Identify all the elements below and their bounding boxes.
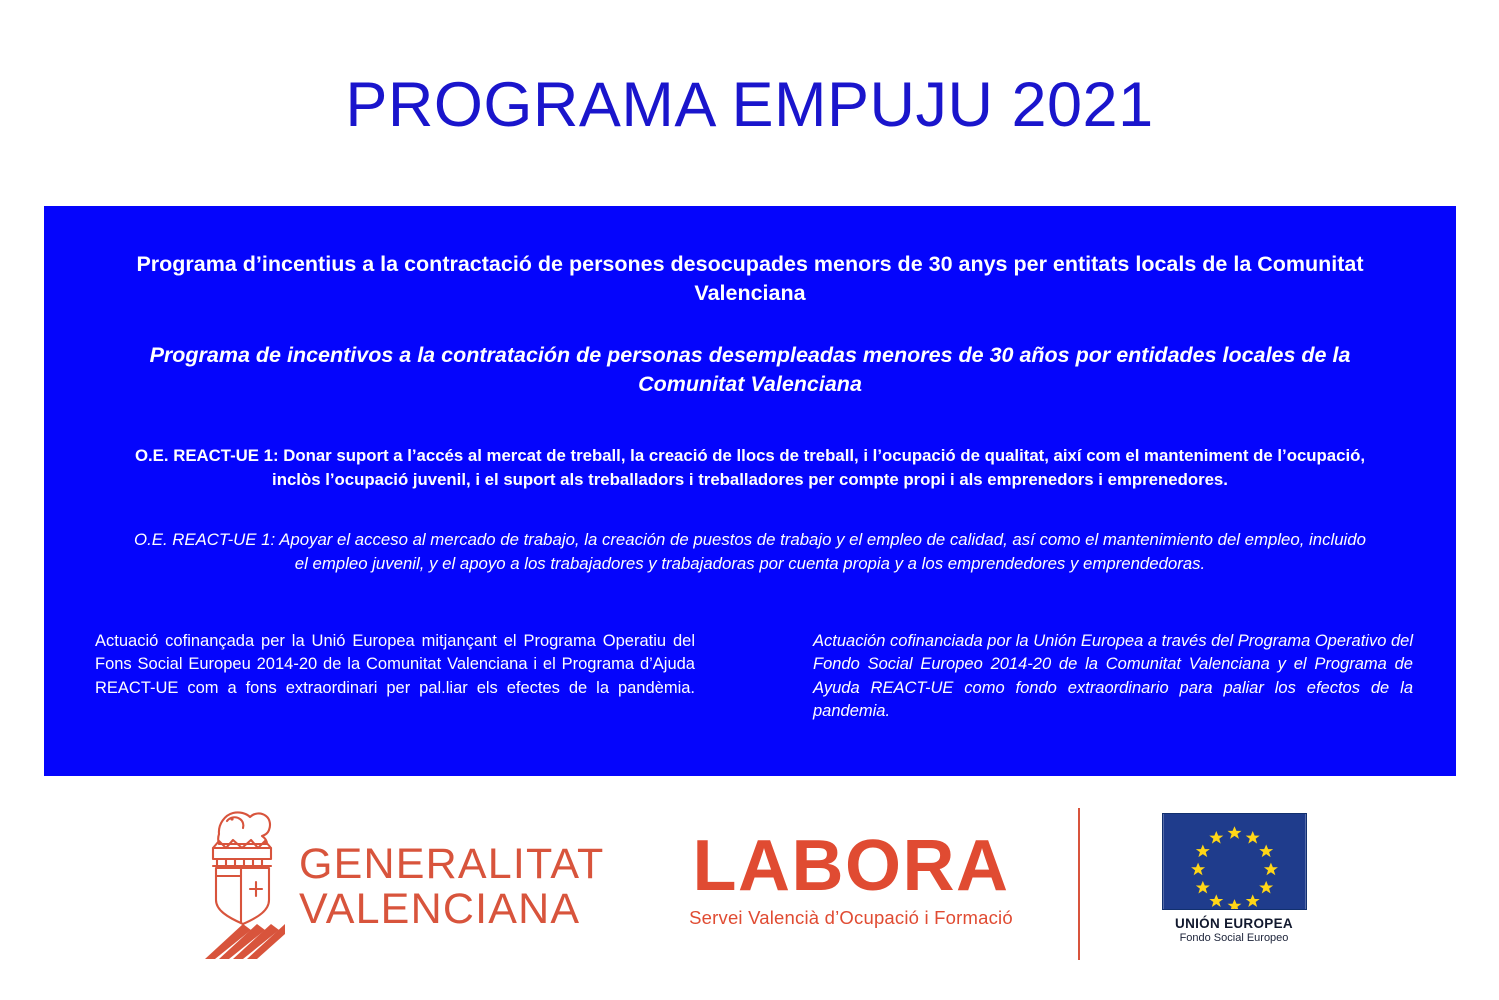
generalitat-valenciana-wordmark: GENERALITAT VALENCIANA — [299, 804, 605, 932]
funding-notice-spanish: Actuación cofinanciada por la Unión Euro… — [813, 630, 1413, 747]
eu-title: UNIÓN EUROPEA — [1158, 916, 1310, 931]
eu-subtitle: Fondo Social Europeo — [1158, 932, 1310, 944]
program-heading-spanish: Programa de incentivos a la contratación… — [104, 341, 1396, 400]
labora-wordmark: LABORA — [676, 832, 1026, 900]
funding-notice-valencian: Actuació cofinançada per la Unió Europea… — [95, 630, 695, 747]
objective-text-spanish: O.E. REACT-UE 1: Apoyar el acceso al mer… — [130, 528, 1370, 575]
funding-notice-columns: Actuació cofinançada per la Unió Europea… — [95, 630, 1413, 747]
page-title: PROGRAMA EMPUJU 2021 — [0, 72, 1499, 138]
logo-strip: GENERALITAT VALENCIANA LABORA Servei Val… — [0, 790, 1499, 975]
generalitat-valenciana-crest-icon — [199, 804, 285, 959]
generalitat-line-2: VALENCIANA — [299, 887, 605, 932]
generalitat-line-1: GENERALITAT — [299, 842, 605, 887]
labora-tagline: Servei Valencià d’Ocupació i Formació — [676, 907, 1026, 929]
generalitat-valenciana-logo: GENERALITAT VALENCIANA — [199, 804, 605, 959]
eu-flag-icon — [1162, 813, 1307, 910]
blue-info-panel: Programa d’incentius a la contractació d… — [44, 206, 1456, 776]
program-heading-valencian: Programa d’incentius a la contractació d… — [104, 250, 1396, 309]
vertical-divider — [1078, 808, 1080, 960]
labora-logo: LABORA Servei Valencià d’Ocupació i Form… — [676, 832, 1026, 929]
european-union-logo: UNIÓN EUROPEA Fondo Social Europeo — [1158, 813, 1310, 944]
slide-canvas: PROGRAMA EMPUJU 2021 Programa d’incentiu… — [0, 0, 1499, 1000]
objective-text-valencian: O.E. REACT-UE 1: Donar suport a l’accés … — [130, 444, 1370, 491]
